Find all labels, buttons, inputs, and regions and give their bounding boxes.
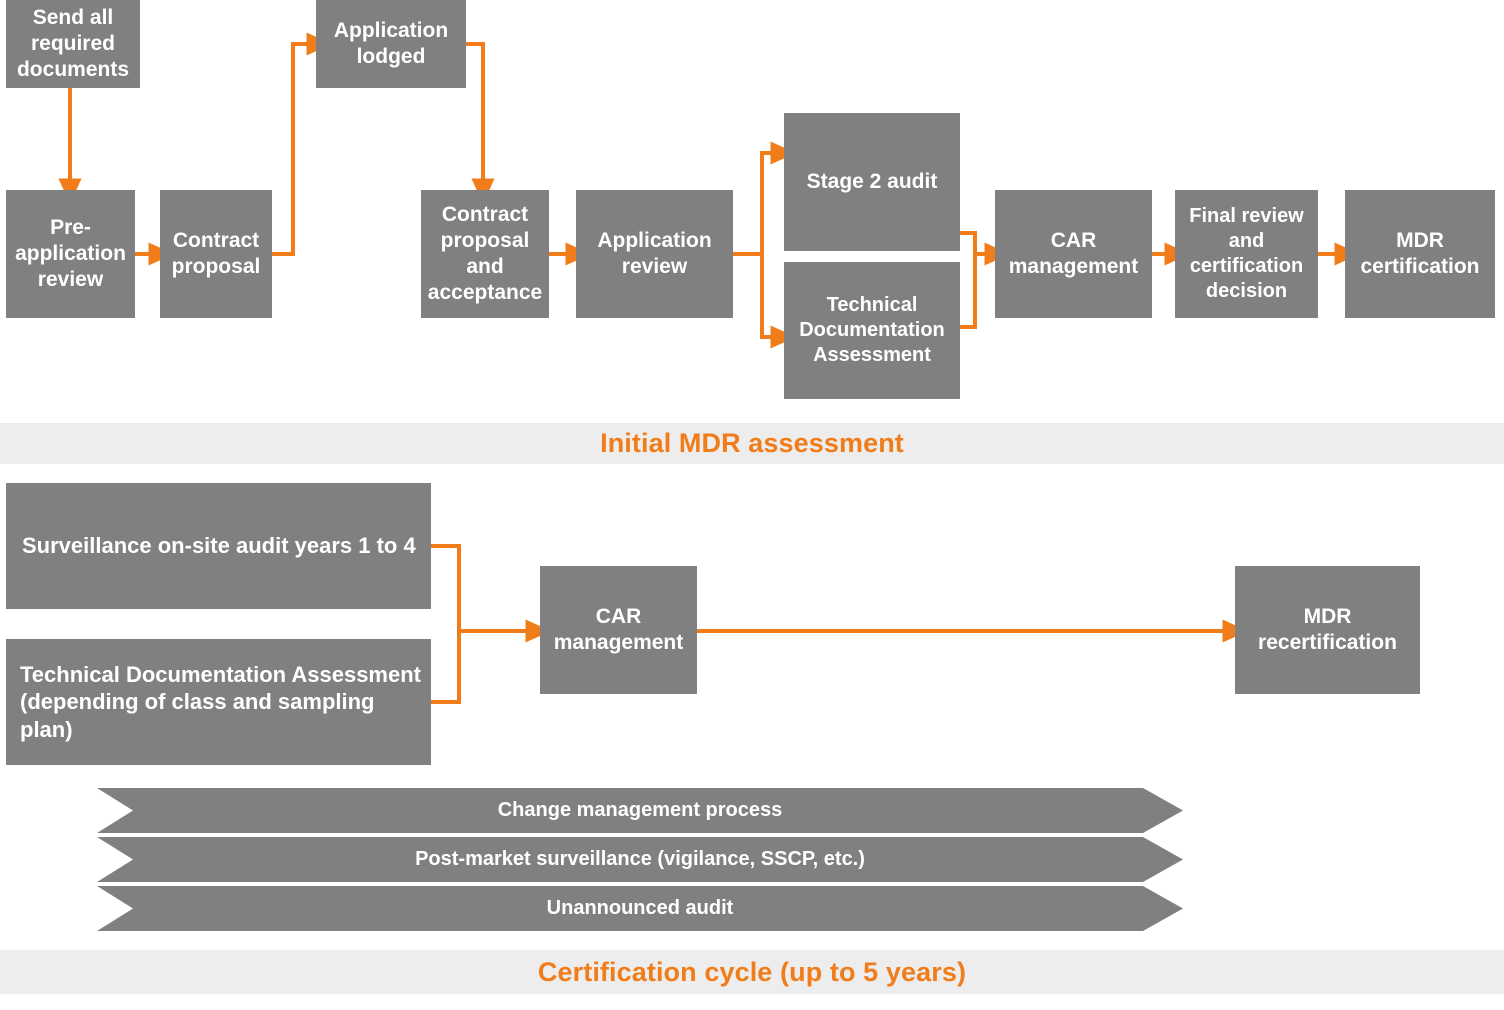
banner-initial-mdr-assessment-label: Initial MDR assessment <box>600 428 904 459</box>
edge-application-review-to-technical-documentation-assessment <box>762 254 772 337</box>
banner-certification-cycle: Certification cycle (up to 5 years) <box>0 950 1504 994</box>
edge-contract-proposal-to-application-lodged <box>272 44 308 254</box>
edge-technical-documentation-assessment-to-merge <box>960 254 975 327</box>
node-stage-2-audit[interactable]: Stage 2 audit <box>784 113 960 251</box>
band-change-management-process[interactable]: Change management process <box>97 788 1183 833</box>
edge-stage-2-audit-to-merge <box>960 233 975 254</box>
node-contract-proposal-and-acceptance[interactable]: Contract proposal and acceptance <box>421 190 549 318</box>
node-mdr-certification[interactable]: MDR certification <box>1345 190 1495 318</box>
node-application-lodged[interactable]: Application lodged <box>316 0 466 88</box>
node-mdr-recertification[interactable]: MDR recertification <box>1235 566 1420 694</box>
edge-application-lodged-to-contract-proposal-acceptance <box>466 44 483 180</box>
banner-certification-cycle-label: Certification cycle (up to 5 years) <box>538 957 966 988</box>
node-send-all-required-documents[interactable]: Send all required documents <box>6 0 140 88</box>
node-pre-application-review[interactable]: Pre- application review <box>6 190 135 318</box>
chevron-shape <box>97 837 1183 882</box>
band-post-market-surveillance[interactable]: Post-market surveillance (vigilance, SSC… <box>97 837 1183 882</box>
node-final-review-and-certification-decision[interactable]: Final review and certification decision <box>1175 190 1318 318</box>
node-technical-documentation-assessment[interactable]: Technical Documentation Assessment <box>784 262 960 399</box>
node-technical-documentation-assessment-cycle[interactable]: Technical Documentation Assessment (depe… <box>6 639 431 765</box>
node-car-management[interactable]: CAR management <box>995 190 1152 318</box>
node-application-review[interactable]: Application review <box>576 190 733 318</box>
edge-surveillance-to-merge <box>431 546 459 631</box>
node-car-management-cycle[interactable]: CAR management <box>540 566 697 694</box>
chevron-shape <box>97 886 1183 931</box>
chevron-shape <box>97 788 1183 833</box>
edge-application-review-to-stage-2-audit <box>762 153 772 254</box>
banner-initial-mdr-assessment: Initial MDR assessment <box>0 423 1504 464</box>
edge-technical-documentation-cycle-to-merge <box>431 631 459 702</box>
node-contract-proposal[interactable]: Contract proposal <box>160 190 272 318</box>
flowchart-canvas: Send all required documents Pre- applica… <box>0 0 1504 1010</box>
band-unannounced-audit[interactable]: Unannounced audit <box>97 886 1183 931</box>
node-surveillance-on-site-audit[interactable]: Surveillance on-site audit years 1 to 4 <box>6 483 431 609</box>
